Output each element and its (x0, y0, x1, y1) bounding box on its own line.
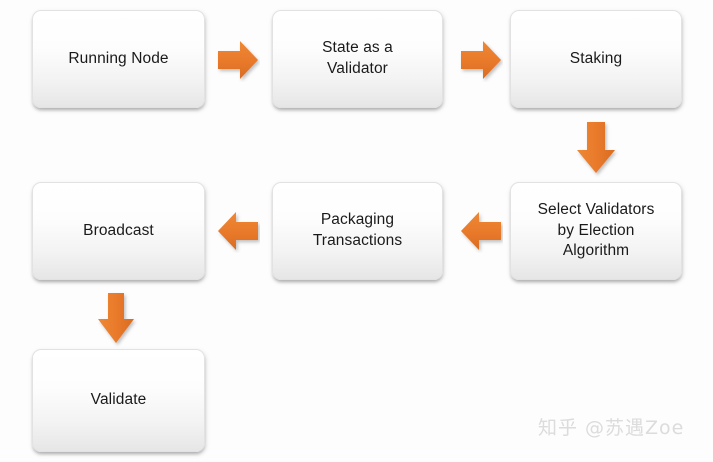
node-label: Staking (570, 49, 622, 70)
watermark: 知乎 @苏遇Zoe (538, 413, 684, 440)
node-state-as-validator[interactable]: State as a Validator (272, 10, 443, 108)
node-label: State as a Validator (322, 38, 393, 79)
node-packaging-transactions[interactable]: Packaging Transactions (272, 182, 443, 280)
arrow-broadcast-to-validate (94, 291, 140, 349)
flowchart-canvas: Running Node State as a Validator St (0, 0, 713, 462)
node-label: Broadcast (83, 221, 154, 242)
node-broadcast[interactable]: Broadcast (32, 182, 205, 280)
arrow-staking-to-select-validators (574, 120, 620, 178)
node-label: Select Validators by Election Algorithm (538, 200, 655, 262)
arrow-packaging-to-broadcast (216, 209, 260, 253)
node-select-validators[interactable]: Select Validators by Election Algorithm (510, 182, 682, 280)
node-validate[interactable]: Validate (32, 349, 205, 452)
node-label: Validate (91, 390, 147, 411)
arrow-state-to-staking (459, 38, 503, 82)
arrow-select-validators-to-packaging (459, 209, 503, 253)
node-staking[interactable]: Staking (510, 10, 682, 108)
node-label: Running Node (68, 49, 168, 70)
node-running-node[interactable]: Running Node (32, 10, 205, 108)
arrow-running-node-to-state (216, 38, 260, 82)
node-label: Packaging Transactions (313, 210, 402, 251)
